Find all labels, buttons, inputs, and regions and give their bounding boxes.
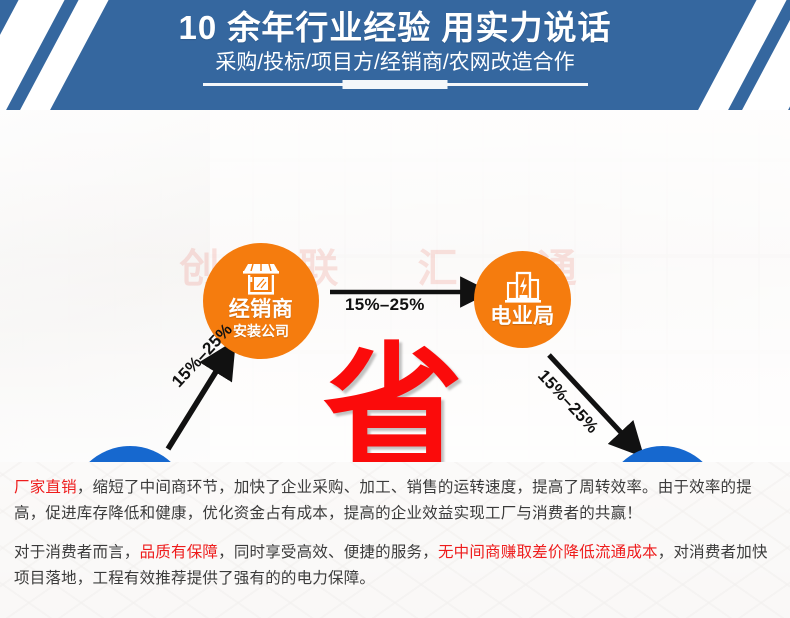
paragraph-one-text: ，缩短了中间商环节，加快了企业采购、加工、销售的运转速度，提高了周转效率。由于效… bbox=[14, 479, 752, 522]
power-building-icon bbox=[503, 271, 543, 305]
node-dealer-sublabel: 安装公司 bbox=[233, 323, 289, 340]
paragraph-two-lead: 对于消费者而言， bbox=[14, 544, 140, 561]
promo-page: 10 余年行业经验 用实力说话 采购/投标/项目方/经销商/农网改造合作 创 联… bbox=[0, 0, 790, 618]
node-dealer-label: 经销商 bbox=[229, 298, 294, 322]
node-power-bureau[interactable]: 电业局 bbox=[474, 251, 571, 348]
brand-watermark: 创 联 汇 通 bbox=[0, 236, 790, 294]
paragraph-one: 厂家直销，缩短了中间商环节，加快了企业采购、加工、销售的运转速度，提高了周转效率… bbox=[14, 475, 776, 527]
page-title: 10 余年行业经验 用实力说话 bbox=[178, 9, 611, 47]
paragraph-two-highlight-one: 品质有保障 bbox=[140, 544, 219, 561]
flow-diagram: 创 联 汇 通 15%–25% 15%–25% 15%–25% 在这里省了中间环… bbox=[0, 110, 790, 462]
paragraph-two-highlight-two: 无中间商赚取差价降低流通成本 bbox=[438, 544, 658, 561]
storefront-icon bbox=[240, 262, 282, 296]
header-divider bbox=[203, 83, 588, 86]
page-header: 10 余年行业经验 用实力说话 采购/投标/项目方/经销商/农网改造合作 bbox=[0, 0, 790, 110]
arrow-label-dealer-to-power: 15%–25% bbox=[345, 295, 425, 315]
paragraph-two: 对于消费者而言，品质有保障，同时享受高效、便捷的服务，无中间商赚取差价降低流通成… bbox=[14, 540, 776, 592]
center-save-character: 省 bbox=[323, 342, 463, 462]
paragraph-two-middle: ，同时享受高效、便捷的服务， bbox=[218, 544, 438, 561]
page-subtitle: 采购/投标/项目方/经销商/农网改造合作 bbox=[215, 50, 574, 76]
description-section: 厂家直销，缩短了中间商环节，加快了企业采购、加工、销售的运转速度，提高了周转效率… bbox=[0, 462, 790, 618]
paragraph-one-highlight: 厂家直销 bbox=[14, 479, 77, 496]
node-power-bureau-label: 电业局 bbox=[490, 305, 555, 329]
